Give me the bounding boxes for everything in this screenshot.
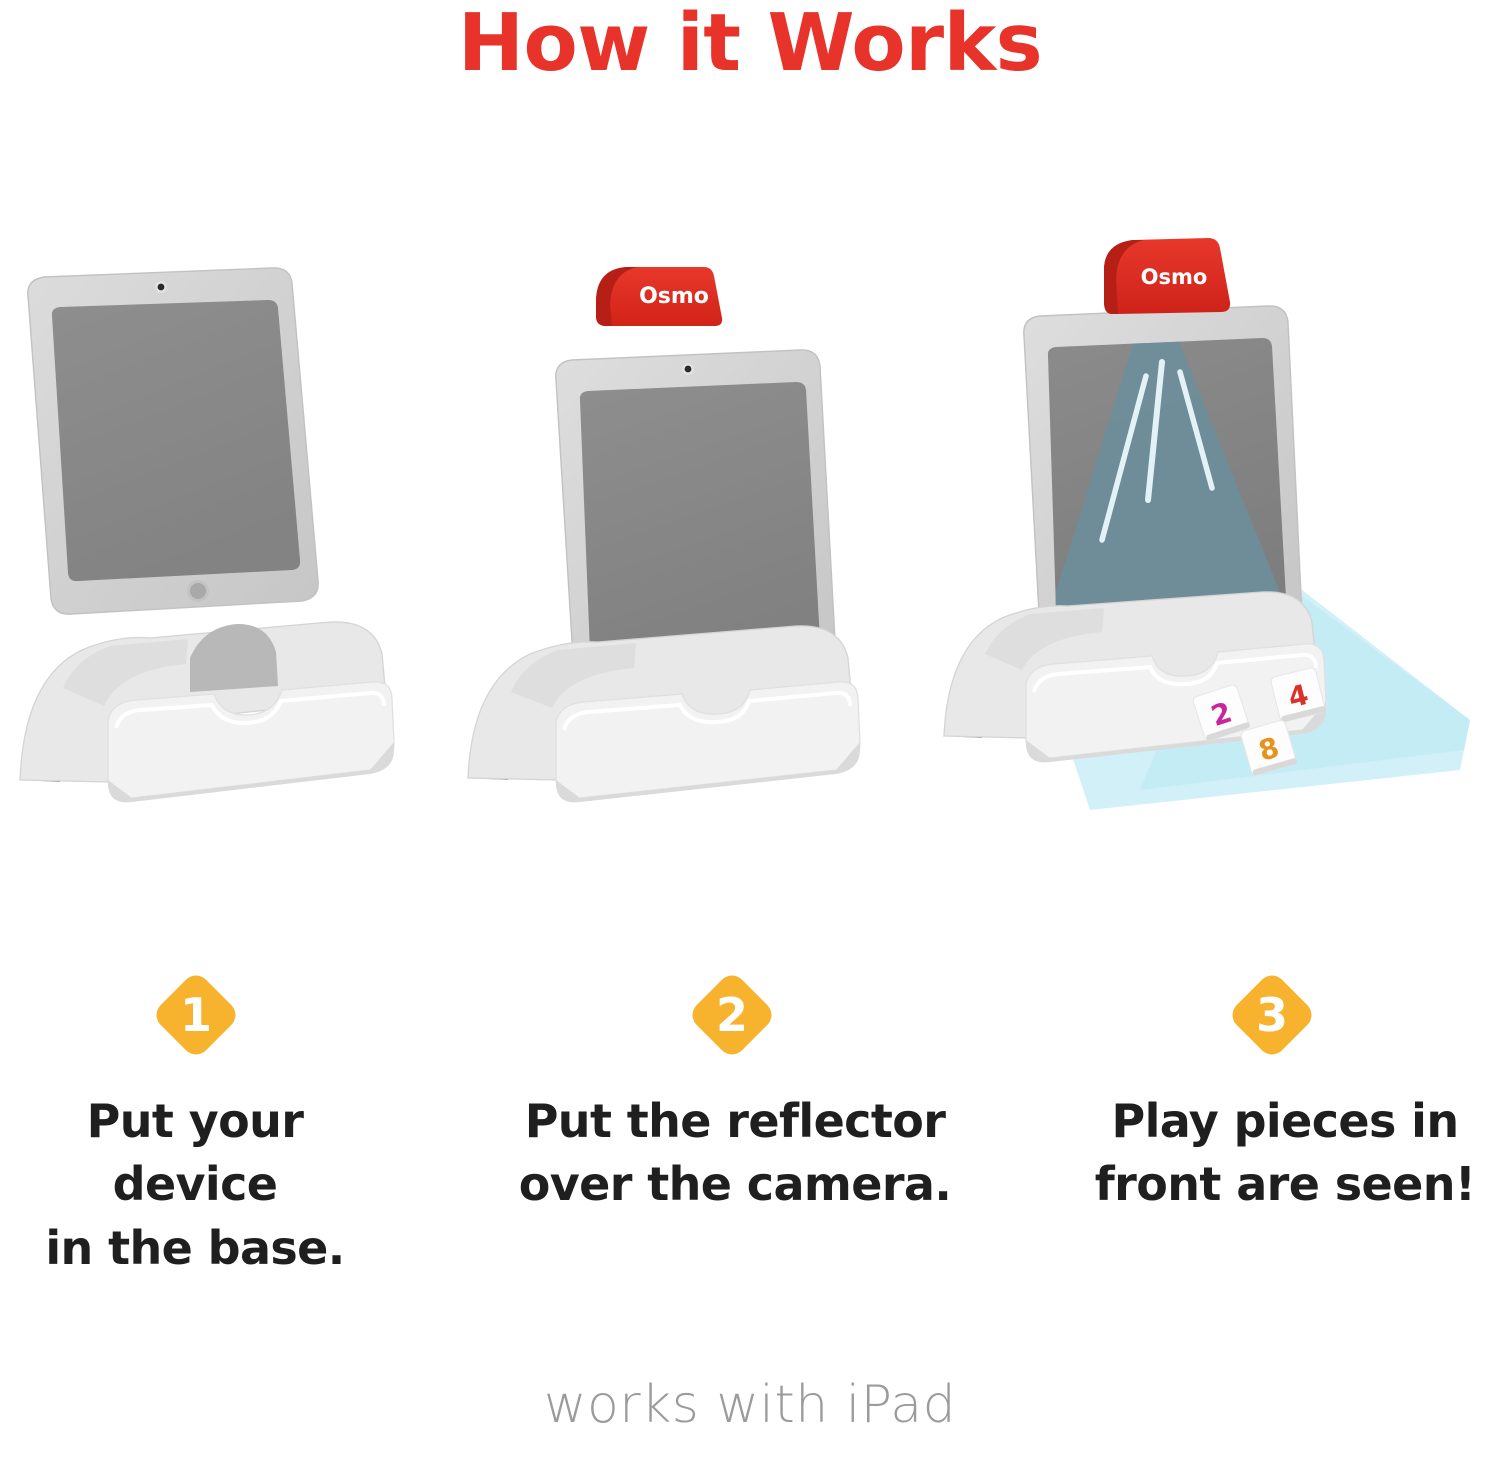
- illustration-row: Osmo: [0, 250, 1500, 870]
- step-badge-row: 1 2 3: [0, 965, 1500, 1070]
- step-caption-1: Put your device in the base.: [0, 1090, 390, 1280]
- device-base: [20, 622, 394, 803]
- step-number-3: 3: [1222, 965, 1322, 1065]
- step-badge-3: 3: [1222, 965, 1322, 1065]
- step-number-1: 1: [146, 965, 246, 1065]
- caption-row: Put your device in the base. Put the ref…: [0, 1090, 1500, 1260]
- reflector-brand-label: Osmo: [639, 284, 709, 309]
- step-3-illustration: Osmo 2: [940, 250, 1500, 870]
- footer-note: works with iPad: [0, 1375, 1500, 1435]
- step-2-illustration: Osmo: [460, 250, 880, 870]
- how-it-works-infographic: How it Works: [0, 0, 1500, 1460]
- step-caption-2: Put the reflector over the camera.: [500, 1090, 970, 1217]
- device-base: [468, 626, 860, 803]
- step-badge-1: 1: [146, 965, 246, 1065]
- step-1-illustration: [0, 250, 420, 870]
- osmo-reflector-icon: Osmo: [596, 267, 722, 326]
- page-title: How it Works: [0, 2, 1500, 85]
- step-number-2: 2: [682, 965, 782, 1065]
- osmo-reflector-icon: Osmo: [1104, 238, 1230, 314]
- tablet-device: [28, 268, 318, 614]
- step-caption-3: Play pieces in front are seen!: [1075, 1090, 1495, 1217]
- reflector-brand-label: Osmo: [1141, 265, 1208, 289]
- step-badge-2: 2: [682, 965, 782, 1065]
